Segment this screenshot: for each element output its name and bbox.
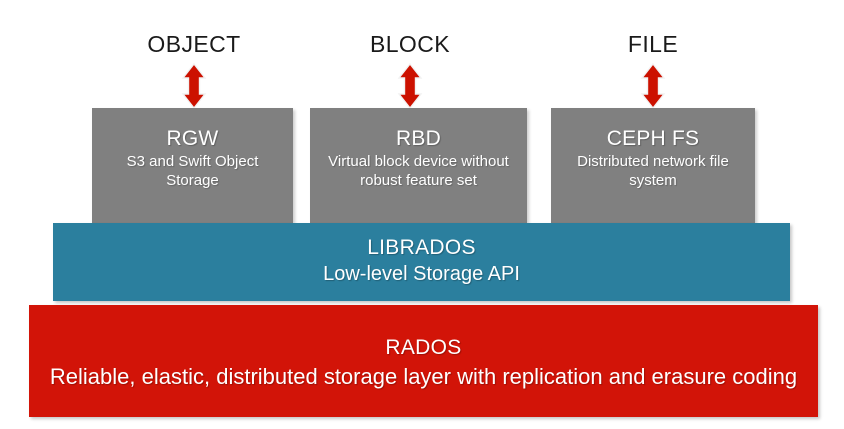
access-label-object: OBJECT: [104, 30, 284, 58]
service-box-rgw-title: RGW: [92, 126, 293, 152]
access-label-file: FILE: [563, 30, 743, 58]
rados-subtitle: Reliable, elastic, distributed storage l…: [29, 361, 818, 393]
service-box-rbd-description: Virtual block device without robust feat…: [310, 152, 527, 190]
librados-layer: LIBRADOS Low-level Storage API: [53, 223, 790, 301]
double-arrow-vertical-icon: [640, 63, 666, 109]
service-box-cephfs-title: CEPH FS: [551, 126, 755, 152]
librados-title: LIBRADOS: [53, 235, 790, 261]
rados-title: RADOS: [29, 335, 818, 361]
service-box-rgw-description: S3 and Swift Object Storage: [92, 152, 293, 190]
access-label-block: BLOCK: [320, 30, 500, 58]
librados-subtitle: Low-level Storage API: [53, 261, 790, 287]
service-box-rbd: RBD Virtual block device without robust …: [310, 108, 527, 223]
double-arrow-vertical-icon: [181, 63, 207, 109]
ceph-architecture-diagram: OBJECT BLOCK FILE RGW S3 and Swift Objec…: [0, 0, 844, 429]
service-box-rbd-title: RBD: [310, 126, 527, 152]
rados-layer: RADOS Reliable, elastic, distributed sto…: [29, 305, 818, 417]
double-arrow-vertical-icon: [397, 63, 423, 109]
service-box-cephfs: CEPH FS Distributed network file system: [551, 108, 755, 223]
service-box-rgw: RGW S3 and Swift Object Storage: [92, 108, 293, 223]
service-box-cephfs-description: Distributed network file system: [551, 152, 755, 190]
